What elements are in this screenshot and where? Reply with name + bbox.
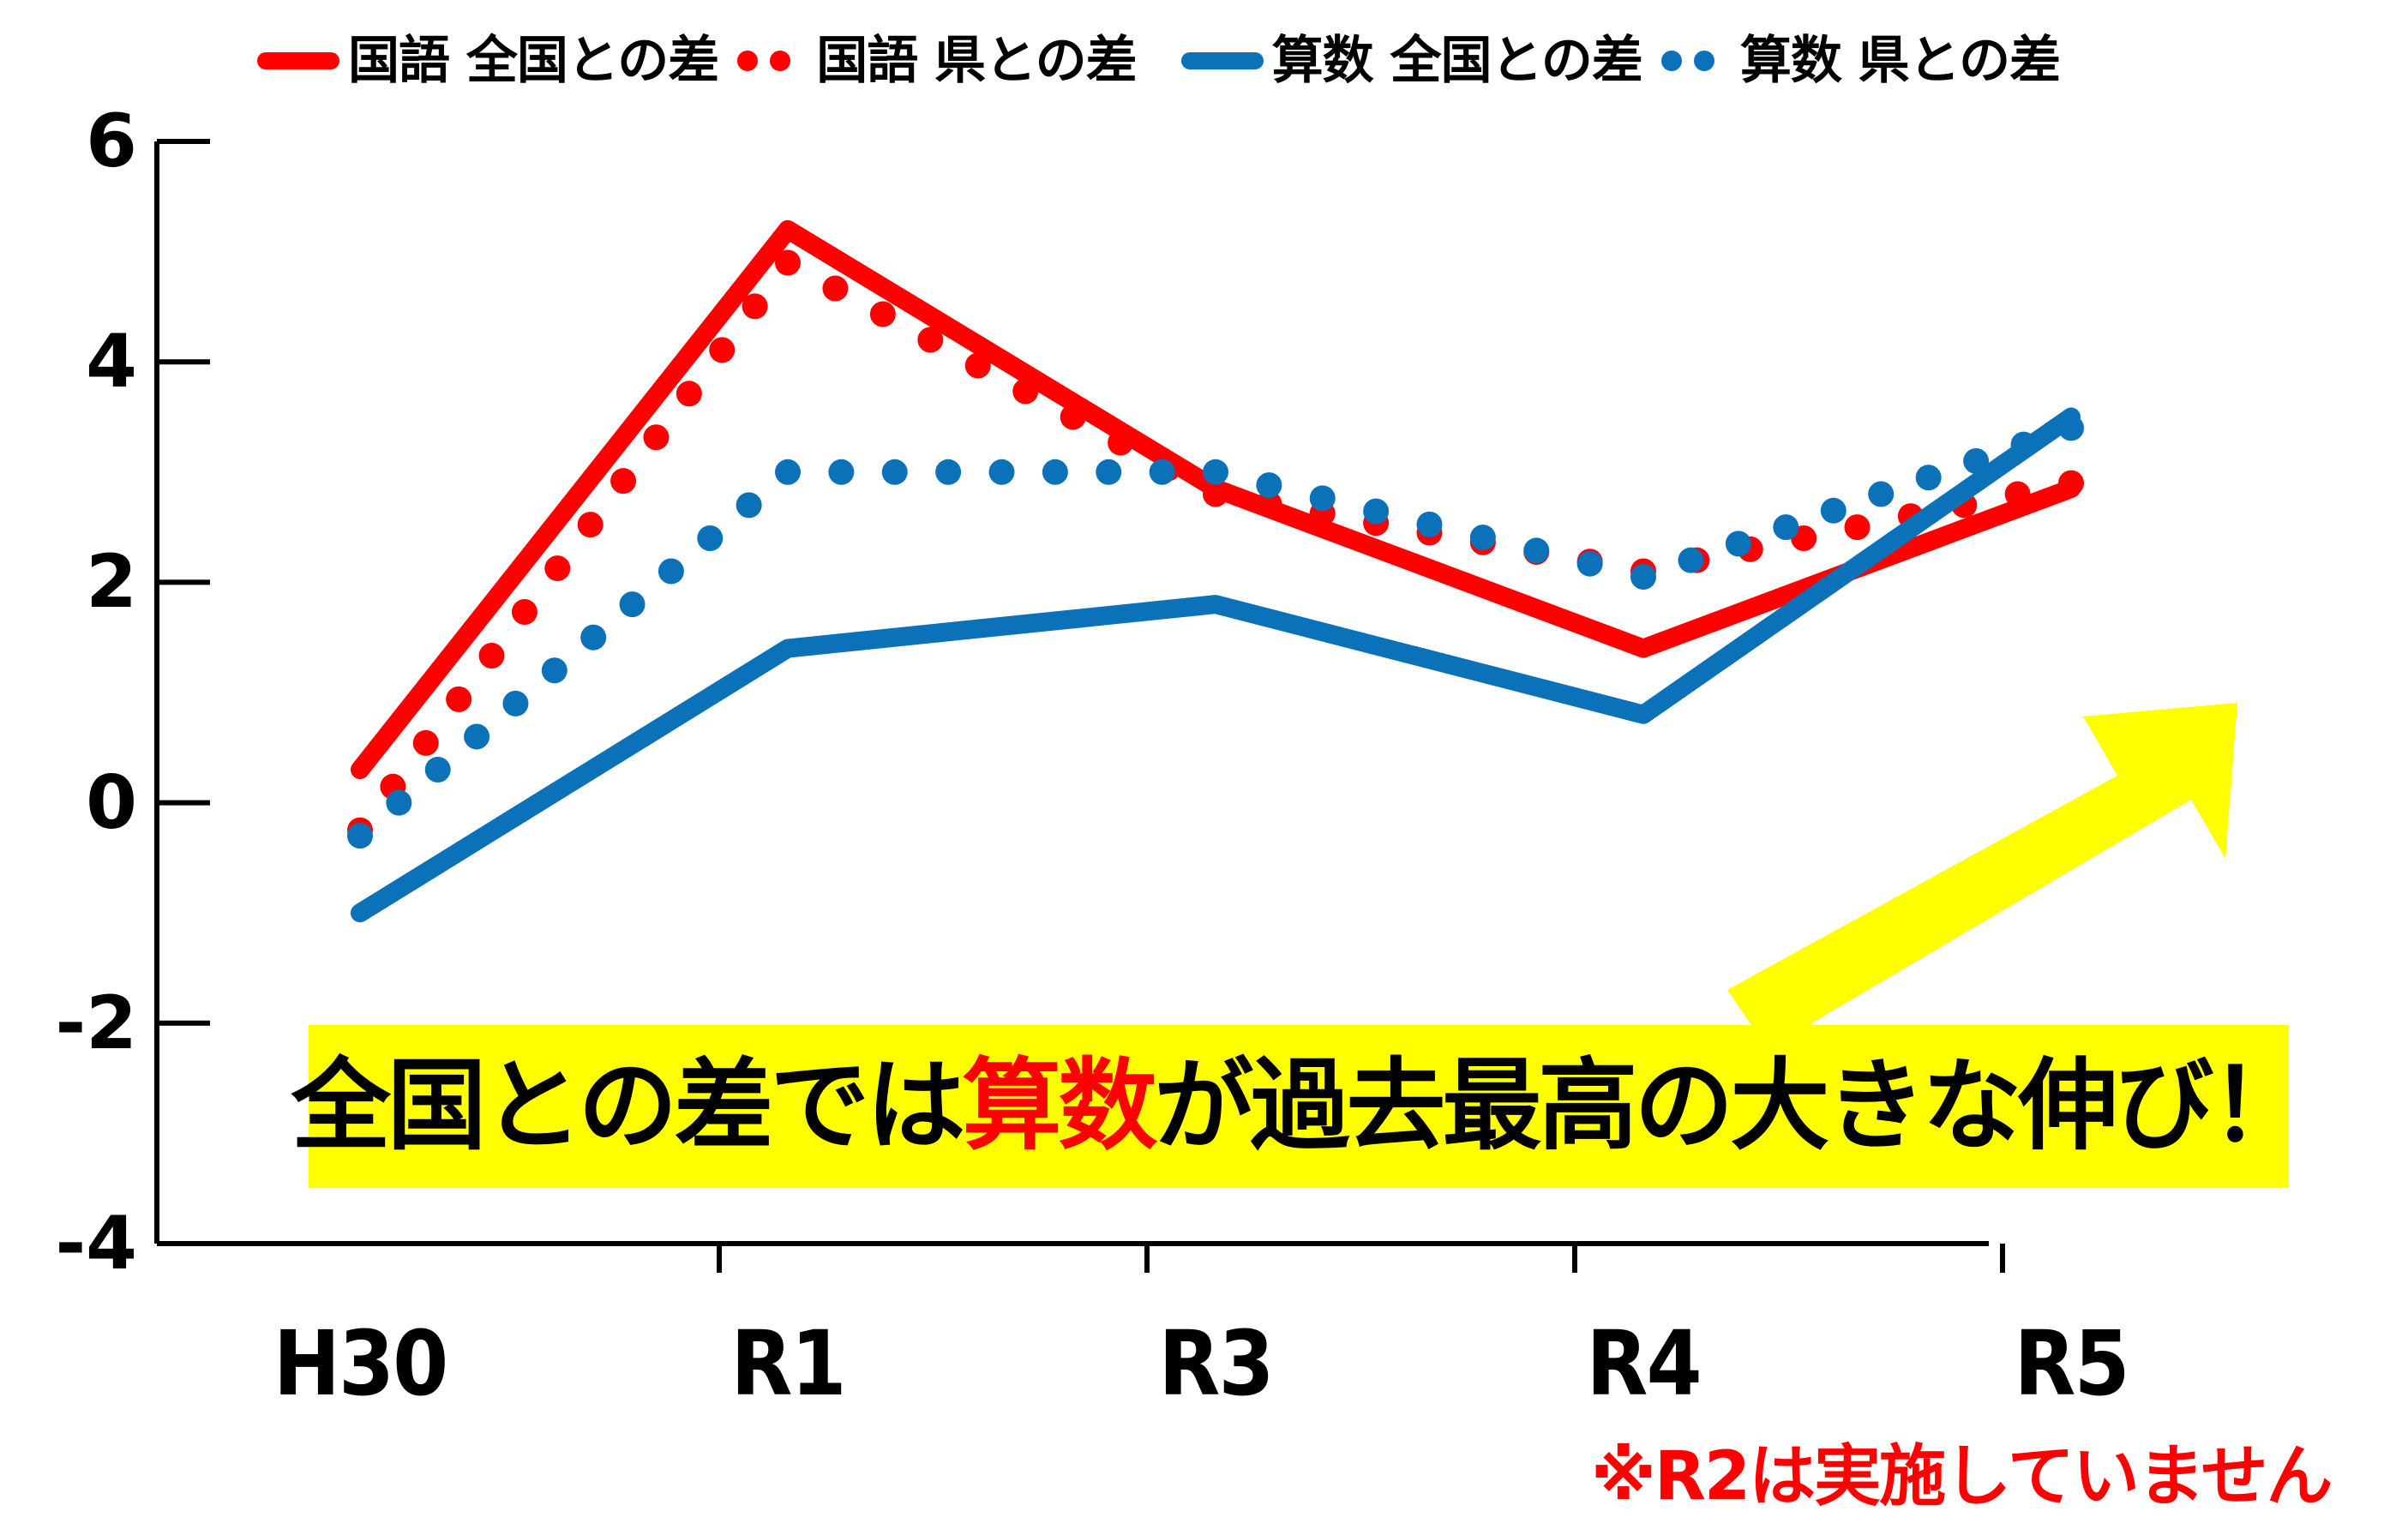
x-axis-tick-label: R1 [634, 1311, 942, 1416]
series-dots-3 [347, 415, 2084, 848]
y-axis-tick-label: -4 [0, 1201, 137, 1286]
highlight-banner: 全国との差では算数が過去最高の大きな伸び！ [309, 1025, 2289, 1188]
chart-svg [0, 0, 2408, 1523]
y-axis-tick-label: 6 [0, 99, 137, 184]
banner-text-highlight: 算数 [962, 1048, 1154, 1164]
x-axis-tick-label: H30 [206, 1311, 514, 1416]
x-axis-tick-label: R3 [1061, 1311, 1370, 1416]
up-right-arrow-icon [1727, 703, 2237, 1049]
y-axis-tick-label: 4 [0, 319, 137, 405]
banner-text-after: が過去最高の大きな伸び！ [1154, 1048, 2306, 1164]
banner-text: 全国との差では算数が過去最高の大きな伸び！ [291, 1057, 2307, 1156]
y-axis-tick-label: 0 [0, 760, 137, 846]
banner-text-before: 全国との差では [291, 1048, 963, 1164]
x-axis-tick-label: R4 [1489, 1311, 1798, 1416]
y-axis-tick-label: -2 [0, 980, 137, 1066]
chart-canvas: 国語 全国との差 国語 県との差 算数 全国との差 算数 県との差 6420-2… [0, 0, 2408, 1523]
footnote-r2: ※R2は実施していません [1591, 1423, 2331, 1519]
y-axis-tick-label: 2 [0, 539, 137, 625]
x-axis-tick-label: R5 [1917, 1311, 2225, 1416]
plot-area [0, 0, 2408, 1523]
